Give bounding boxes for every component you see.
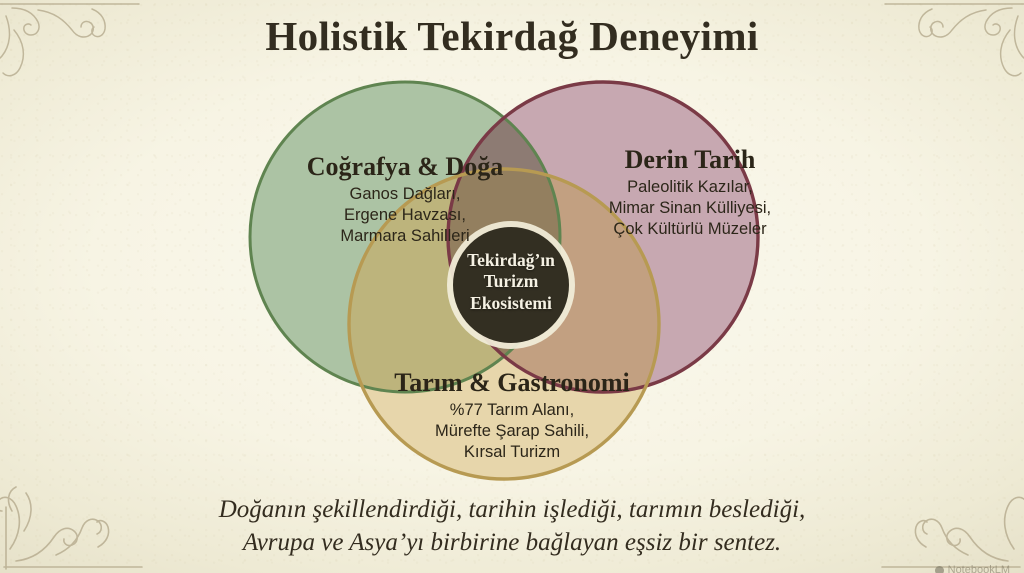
slide-canvas: Holistik Tekirdağ Deneyimi (0, 0, 1024, 573)
venn-core-circle (453, 227, 569, 343)
caption-line-2: Avrupa ve Asya’yı birbirine bağlayan eşs… (0, 526, 1024, 559)
caption-line-1: Doğanın şekillendirdiği, tarihin işlediğ… (0, 493, 1024, 526)
caption: Doğanın şekillendirdiği, tarihin işlediğ… (0, 493, 1024, 559)
venn-diagram (0, 0, 1024, 573)
